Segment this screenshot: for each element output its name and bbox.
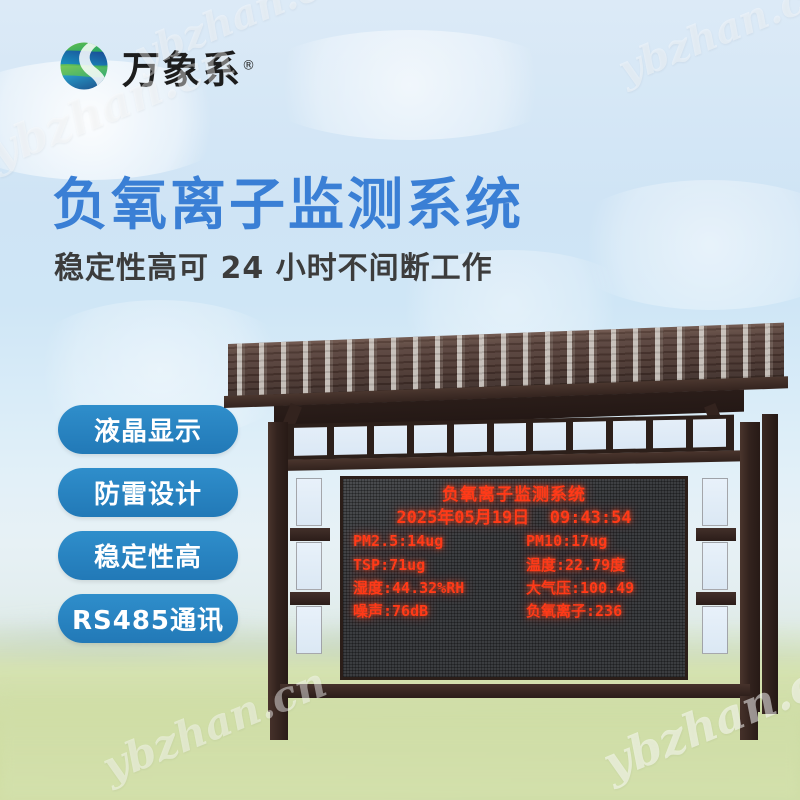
product-banner: 万象系® 负氧离子监测系统 稳定性高可 24 小时不间断工作 液晶显示 防雷设计… — [0, 0, 800, 800]
feature-badge-lcd[interactable]: 液晶显示 — [58, 405, 238, 454]
brand-name-wrap: 万象系® — [122, 39, 257, 94]
side-window — [296, 606, 322, 654]
side-window-column-left — [290, 474, 330, 674]
page-title: 负氧离子监测系统 — [52, 160, 524, 241]
side-window-column-right — [696, 474, 736, 674]
side-rail — [290, 592, 330, 605]
trademark-symbol: ® — [242, 58, 257, 73]
frame-leg-left — [270, 696, 288, 740]
side-rail — [290, 528, 330, 541]
frame-leg-right — [740, 696, 758, 740]
led-date: 2025年05月19日 — [396, 508, 529, 528]
slat-opening — [613, 420, 646, 449]
frame-post-right-outer — [762, 414, 778, 714]
slat-opening — [693, 419, 726, 448]
led-display-screen[interactable]: 负氧离子监测系统 2025年05月19日 09:43:54 PM2.5:14ug… — [340, 476, 688, 680]
feature-badge-rs485[interactable]: RS485通讯 — [58, 594, 238, 643]
led-reading-grid: PM2.5:14ug PM10:17ug TSP:71ug 温度:22.79度 … — [353, 533, 675, 620]
led-reading-humidity: 湿度:44.32%RH — [353, 580, 512, 597]
slat-opening — [334, 426, 367, 455]
feature-badge-lightning-protection[interactable]: 防雷设计 — [58, 468, 238, 517]
side-window — [296, 542, 322, 590]
frame-post-right — [740, 422, 760, 712]
led-title: 负氧离子监测系统 — [353, 486, 675, 505]
led-content: 负氧离子监测系统 2025年05月19日 09:43:54 PM2.5:14ug… — [343, 479, 685, 620]
frame-post-left — [268, 422, 288, 712]
brand-logo: 万象系® — [56, 38, 257, 94]
cloud-puff — [560, 180, 800, 310]
side-window — [702, 478, 728, 526]
side-window — [702, 606, 728, 654]
led-reading-pm10: PM10:17ug — [516, 533, 675, 550]
side-rail — [696, 528, 736, 541]
brand-name: 万象系 — [122, 48, 242, 92]
feature-badge-list: 液晶显示 防雷设计 稳定性高 RS485通讯 — [58, 405, 238, 643]
cloud-puff — [250, 30, 570, 140]
slat-opening — [414, 425, 447, 454]
side-rail — [696, 592, 736, 605]
led-reading-pm25: PM2.5:14ug — [353, 533, 512, 550]
slat-opening — [573, 421, 606, 450]
led-reading-pressure: 大气压:100.49 — [516, 580, 675, 597]
slat-opening — [454, 424, 487, 453]
page-subtitle: 稳定性高可 24 小时不间断工作 — [54, 243, 493, 287]
slat-opening — [294, 427, 327, 456]
slat-opening — [494, 423, 527, 452]
led-reading-tsp: TSP:71ug — [353, 557, 512, 574]
feature-badge-stability[interactable]: 稳定性高 — [58, 531, 238, 580]
led-datetime: 2025年05月19日 09:43:54 — [353, 509, 675, 528]
led-reading-negative-ions: 负氧离子:236 — [516, 603, 675, 620]
monitoring-station-kiosk: 负氧离子监测系统 2025年05月19日 09:43:54 PM2.5:14ug… — [228, 344, 784, 712]
led-reading-noise: 噪声:76dB — [353, 603, 512, 620]
slat-opening — [374, 425, 407, 454]
led-time: 09:43:54 — [550, 508, 632, 528]
frame-beam-bottom — [280, 684, 750, 698]
side-window — [702, 542, 728, 590]
globe-swirl-icon — [56, 38, 112, 94]
led-reading-temperature: 温度:22.79度 — [516, 557, 675, 574]
slat-opening — [653, 420, 686, 449]
slat-opening — [533, 422, 566, 451]
watermark: ybzhan.cn — [611, 0, 800, 94]
side-window — [296, 478, 322, 526]
